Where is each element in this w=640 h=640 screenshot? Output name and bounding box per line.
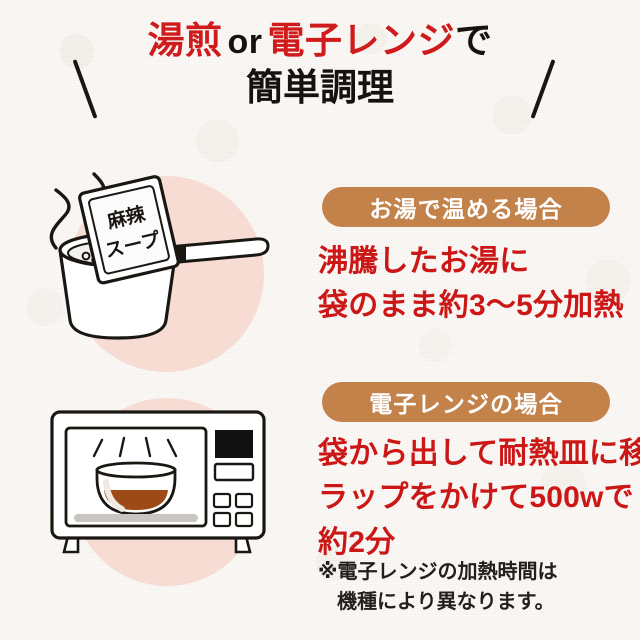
title-or: or (223, 23, 268, 61)
title-microwave: 電子レンジ (268, 20, 456, 61)
step-line: 袋のまま約3〜5分加熱 (318, 284, 624, 328)
steps-microwave: 袋から出して耐熱皿に移し ラップをかけて500wで 約2分 (318, 432, 624, 565)
step-line: ラップをかけて500wで (318, 476, 624, 520)
microwave-display (215, 430, 253, 458)
badge-hot-water-label: お湯で温める場合 (369, 190, 563, 224)
title-line-1: 湯煎or電子レンジで (0, 18, 640, 63)
page-title: 湯煎or電子レンジで 簡単調理 (0, 18, 640, 111)
pot-handle (168, 239, 268, 263)
microwave-keypad-button (214, 513, 230, 526)
microwave-start-button (215, 464, 253, 480)
instruction-graphic: 湯煎or電子レンジで 簡単調理 麻辣 (0, 0, 640, 640)
badge-microwave: 電子レンジの場合 (322, 382, 610, 422)
microwave-keypad-button (236, 513, 252, 526)
title-yusen: 湯煎 (148, 20, 223, 61)
note-line: ※電子レンジの加熱時間は (318, 557, 628, 587)
title-de: で (455, 20, 493, 61)
microwave-illustration (40, 390, 290, 565)
soup-bowl (97, 463, 175, 514)
microwave-keypad-button (236, 494, 252, 507)
pot-illustration: 麻辣 スープ (18, 160, 298, 370)
microwave-note: ※電子レンジの加熱時間は 機種により異なります。 (318, 557, 628, 617)
microwave-keypad-button (214, 494, 230, 507)
badge-hot-water: お湯で温める場合 (322, 187, 610, 227)
step-line: 沸騰したお湯に (318, 240, 624, 284)
step-line: 袋から出して耐熱皿に移し (318, 432, 624, 476)
steps-hot-water: 沸騰したお湯に 袋のまま約3〜5分加熱 (318, 240, 624, 329)
badge-microwave-label: 電子レンジの場合 (369, 385, 563, 419)
note-line: 機種により異なります。 (318, 587, 628, 617)
microwave-tray (74, 514, 198, 522)
